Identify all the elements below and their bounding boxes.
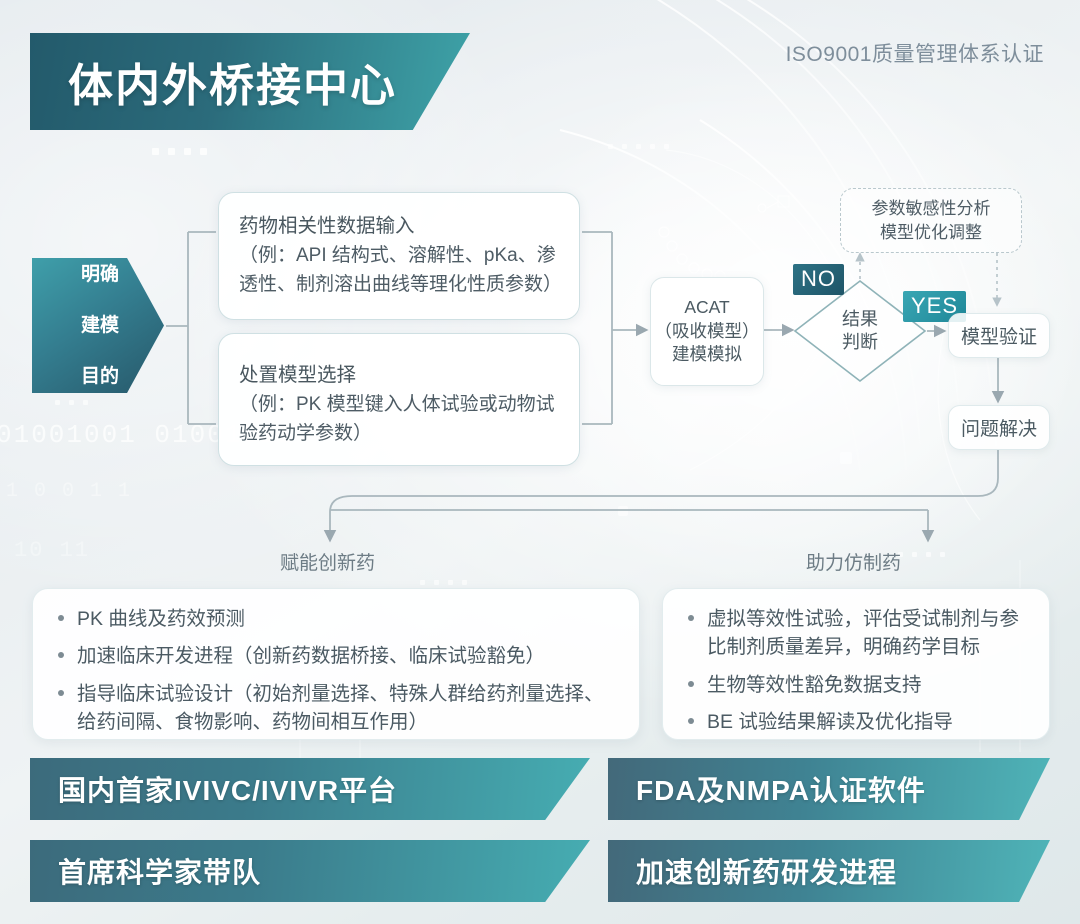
input-card-drug-data: 药物相关性数据输入 （例：API 结构式、溶解性、pKa、渗透性、制剂溶出曲线等… (218, 192, 580, 320)
acat-line-2: （吸收模型） (655, 320, 760, 344)
infographic-canvas: 01001001 01001011 1 0 0 1 1 10 11 体内外桥接中… (0, 0, 1080, 924)
sensitivity-line-2: 模型优化调整 (880, 221, 982, 245)
decor-dot-row-4 (420, 580, 467, 585)
decor-binary-row-2: 1 0 0 1 1 (6, 480, 132, 503)
title-banner: 体内外桥接中心 (30, 33, 470, 130)
list-item: PK 曲线及药效预测 (55, 605, 621, 633)
footer-bar-row-2: 首席科学家带队 加速创新药研发进程 (0, 840, 1080, 902)
input-card-example: （例：API 结构式、溶解性、pKa、渗透性、制剂溶出曲线等理化性质参数） (239, 242, 559, 299)
footer-bar-label: FDA及NMPA认证软件 (636, 769, 926, 809)
certification-label: ISO9001质量管理体系认证 (786, 38, 1044, 68)
list-item: 生物等效性豁免数据支持 (685, 671, 1031, 699)
sensitivity-line-1: 参数敏感性分析 (872, 197, 991, 221)
footer-bar-label: 首席科学家带队 (58, 851, 261, 891)
branch-panel-innovative-drug: PK 曲线及药效预测 加速临床开发进程（创新药数据桥接、临床试验豁免） 指导临床… (32, 588, 640, 740)
decor-dot-row-5 (898, 552, 945, 557)
decor-dot-row-3 (55, 400, 88, 405)
page-title: 体内外桥接中心 (68, 49, 397, 114)
input-card-title: 处置模型选择 (239, 358, 559, 387)
sensitivity-analysis-node: 参数敏感性分析 模型优化调整 (840, 188, 1022, 253)
list-item: 加速临床开发进程（创新药数据桥接、临床试验豁免） (55, 642, 621, 670)
input-card-example: （例：PK 模型键入人体试验或动物试验药动学参数） (239, 391, 559, 448)
decor-dot-row-2 (608, 144, 669, 149)
list-item: 指导临床试验设计（初始剂量选择、特殊人群给药剂量选择、给药间隔、食物影响、药物间… (55, 680, 621, 737)
footer-bar-left-segment: 首席科学家带队 (30, 840, 590, 902)
branch-label-generic-drug: 助力仿制药 (806, 548, 901, 575)
footer-bar-label: 国内首家IVIVC/IVIVR平台 (58, 769, 397, 809)
decor-binary-row-3: 10 11 (14, 538, 90, 563)
list-item: 虚拟等效性试验，评估受试制剂与参比制剂质量差异，明确药学目标 (685, 605, 1031, 662)
acat-line-1: ACAT (684, 296, 729, 320)
input-card-model-selection: 处置模型选择 （例：PK 模型键入人体试验或动物试验药动学参数） (218, 333, 580, 466)
input-card-title: 药物相关性数据输入 (239, 209, 559, 238)
decision-no-badge: NO (793, 264, 844, 295)
branch-panel-generic-drug: 虚拟等效性试验，评估受试制剂与参比制剂质量差异，明确药学目标 生物等效性豁免数据… (662, 588, 1050, 740)
footer-bar-left-segment: 国内首家IVIVC/IVIVR平台 (30, 758, 590, 820)
footer-bar-row-1: 国内首家IVIVC/IVIVR平台 FDA及NMPA认证软件 (0, 758, 1080, 820)
list-item: BE 试验结果解读及优化指导 (685, 708, 1031, 736)
problem-solved-node: 问题解决 (948, 405, 1050, 450)
footer-bar-right-segment: 加速创新药研发进程 (608, 840, 1050, 902)
footer-bar-right-segment: FDA及NMPA认证软件 (608, 758, 1050, 820)
model-validation-node: 模型验证 (948, 313, 1050, 358)
acat-line-3: 建模模拟 (672, 343, 742, 367)
flow-start-label: 明确 建模 目的 (48, 262, 120, 389)
footer-bar-label: 加速创新药研发进程 (636, 851, 897, 891)
branch-label-innovative-drug: 赋能创新药 (280, 548, 375, 575)
flow-start-node: 明确 建模 目的 (32, 258, 164, 393)
acat-model-node: ACAT （吸收模型） 建模模拟 (650, 277, 764, 386)
decor-dot-row-1 (152, 148, 207, 155)
